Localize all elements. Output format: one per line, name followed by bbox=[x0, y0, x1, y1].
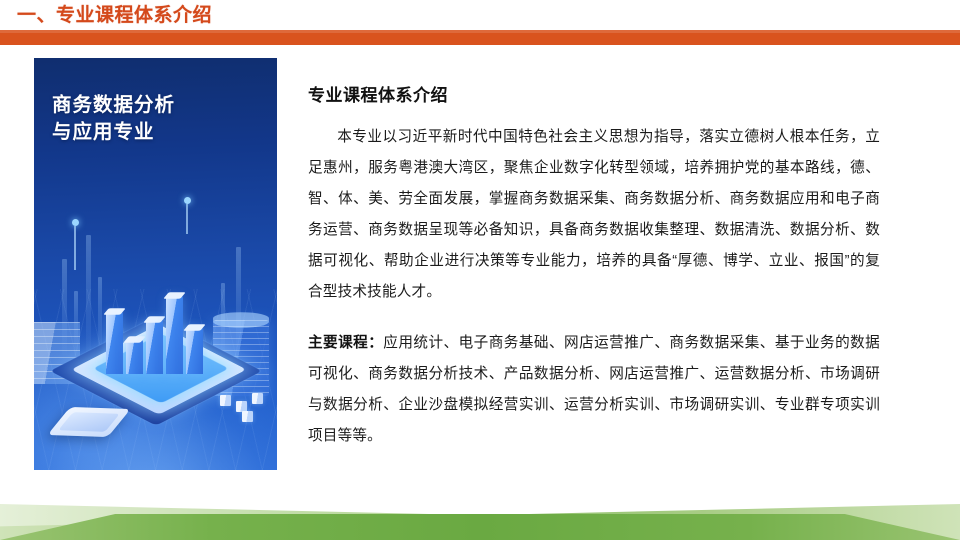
cube-icon bbox=[252, 393, 263, 404]
tablet-device-icon bbox=[47, 407, 130, 437]
cube-icon bbox=[220, 395, 231, 406]
data-bar-icon bbox=[146, 320, 163, 374]
data-bar-icon bbox=[106, 312, 123, 374]
card-title: 商务数据分析 与应用专业 bbox=[52, 92, 262, 146]
slide-header: 一、专业课程体系介绍 bbox=[0, 0, 960, 46]
courses-label: 主要课程： bbox=[308, 335, 383, 351]
card-title-line-1: 商务数据分析 bbox=[52, 92, 262, 119]
isometric-illustration bbox=[34, 230, 277, 470]
cube-icon bbox=[242, 411, 253, 422]
paragraph-spacer bbox=[308, 308, 880, 328]
courses-paragraph: 主要课程：应用统计、电子商务基础、网店运营推广、商务数据采集、基于业务的数据可视… bbox=[308, 328, 880, 452]
content-heading: 专业课程体系介绍 bbox=[308, 84, 880, 108]
content-column: 专业课程体系介绍 本专业以习近平新时代中国特色社会主义思想为指导，落实立德树人根… bbox=[308, 84, 880, 452]
data-bar-icon bbox=[126, 340, 143, 374]
card-title-line-2: 与应用专业 bbox=[52, 119, 262, 146]
data-bar-icon bbox=[166, 296, 183, 374]
slide: 一、专业课程体系介绍 商务数据分析 与应用专业 bbox=[0, 0, 960, 540]
footer-decoration bbox=[0, 488, 960, 540]
page-title: 一、专业课程体系介绍 bbox=[17, 3, 212, 29]
footer-triangle-front bbox=[0, 514, 960, 540]
data-bar-icon bbox=[186, 328, 203, 374]
program-image-card: 商务数据分析 与应用专业 bbox=[34, 58, 277, 470]
intro-paragraph: 本专业以习近平新时代中国特色社会主义思想为指导，落实立德树人根本任务，立足惠州，… bbox=[308, 122, 880, 308]
header-accent-bar-highlight bbox=[0, 30, 960, 33]
courses-text: 应用统计、电子商务基础、网店运营推广、商务数据采集、基于业务的数据可视化、商务数… bbox=[308, 335, 880, 444]
